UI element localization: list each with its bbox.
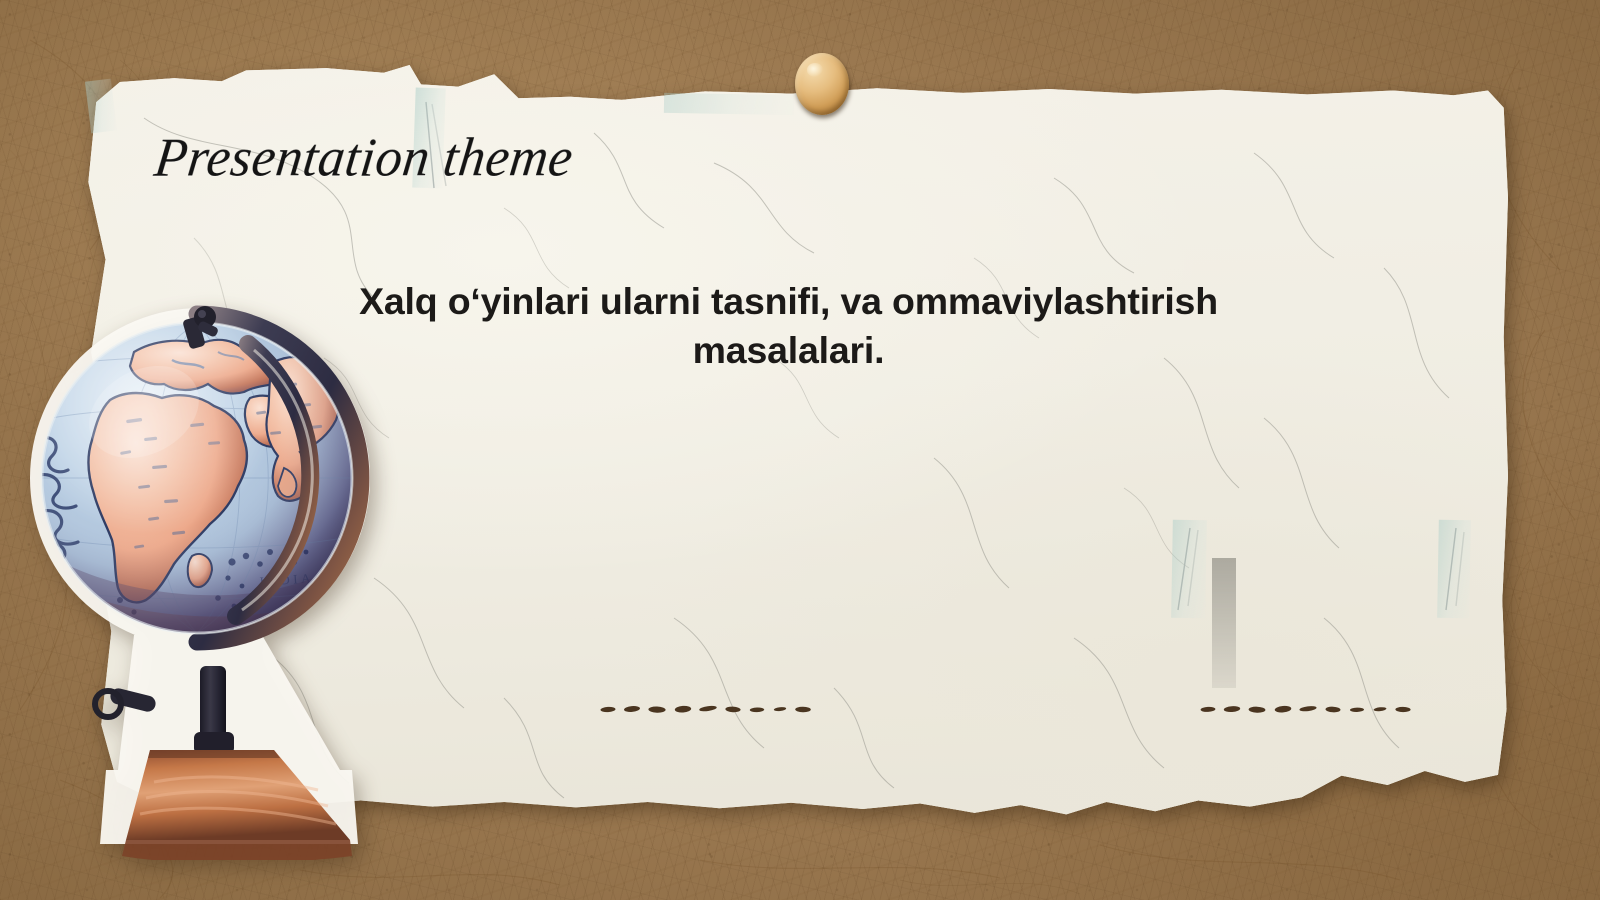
- presentation-slide: Presentation theme Xalq o‘yinlari ularni…: [0, 0, 1600, 900]
- pushpin-glint: [807, 63, 823, 77]
- page-title: Xalq o‘yinlari ularni tasnifi, va ommavi…: [296, 277, 1281, 375]
- page-title-line-1: Xalq o‘yinlari ularni tasnifi, va ommavi…: [359, 280, 1218, 322]
- pushpin-head: [795, 53, 849, 115]
- page-title-line-2: masalalari.: [693, 329, 885, 371]
- brass-pushpin-icon: [795, 53, 849, 115]
- desk-globe-illustration: INDIA: [22, 300, 442, 860]
- slide-kicker: Presentation theme: [152, 131, 576, 186]
